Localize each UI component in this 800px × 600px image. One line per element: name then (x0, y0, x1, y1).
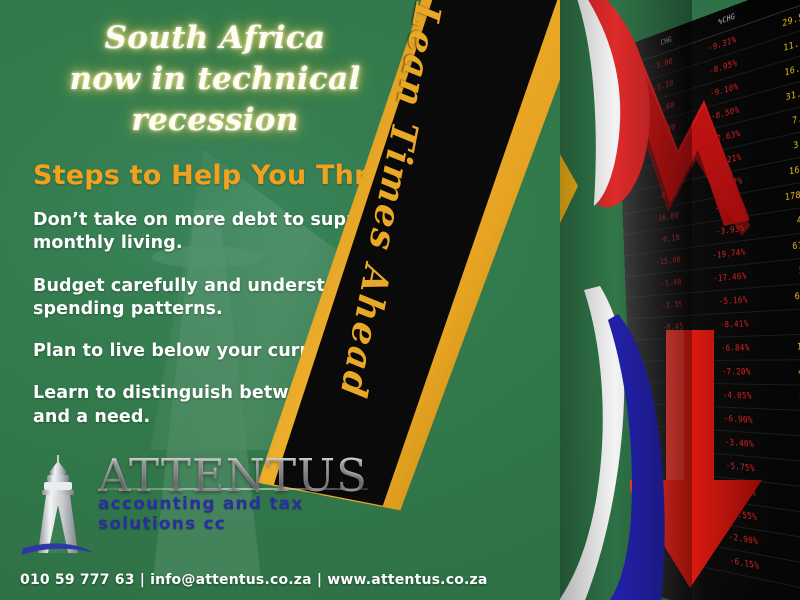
south-african-flag-icon (560, 0, 692, 600)
lighthouse-icon (20, 453, 96, 558)
contact-line[interactable]: 010 59 777 63 | info@attentus.co.za | ww… (20, 572, 488, 588)
brand-name: ATTENTUS (98, 455, 398, 498)
poster-canvas: South Africa now in technical recession … (0, 0, 800, 600)
company-logo[interactable]: ATTENTUS accounting and tax solutions cc (14, 454, 394, 564)
brand-text: ATTENTUS accounting and tax solutions cc (98, 455, 398, 534)
headline-line-1: South Africa (0, 18, 430, 59)
recession-imagery-panel: CHG%CHGLAST-3.00-9.31%29.50-1.10-8.95%11… (560, 0, 800, 600)
page-title: South Africa now in technical recession (0, 18, 430, 141)
headline-line-2: now in technical recession (0, 59, 430, 141)
